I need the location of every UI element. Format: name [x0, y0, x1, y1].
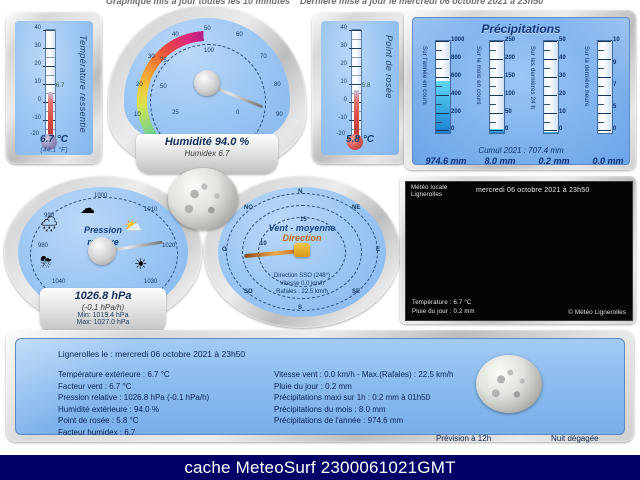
lcd-copyright: © Météo Lignerolles — [568, 309, 626, 316]
felt-tick-30: 30 — [23, 43, 41, 49]
full-moon-icon — [476, 355, 542, 413]
humidity-tick-80: 80 — [274, 82, 281, 88]
precip-24h-tick-0: 0 — [559, 126, 562, 132]
caption-last-update: Dernière mise à jour le mercredi 06 octo… — [300, 0, 543, 6]
lcd-temperature: Température : 6.7 °C — [412, 300, 471, 306]
summary-wind-speed: Vitesse vent : 0.0 km/h - Max.(Rafales) … — [274, 369, 453, 381]
felt-current-marker: 6.7 — [56, 83, 64, 89]
precip-month-tick-50: 50 — [505, 109, 512, 115]
humidity-tick-20: 20 — [136, 82, 143, 88]
lcd-panel[interactable]: Météo locale Lignerolles mercredi 06 oct… — [400, 176, 636, 324]
precip-tube-hour — [597, 40, 613, 134]
humidity-inner-tick-50: 50 — [160, 84, 167, 90]
lcd-screen: Météo locale Lignerolles mercredi 06 oct… — [405, 181, 633, 321]
lcd-datetime: mercredi 06 octobre 2021 à 23h50 — [476, 187, 589, 194]
summary-rain-year: Précipitations de l'année : 974.6 mm — [274, 415, 453, 427]
forecast-text: Nuit dégagée — [551, 434, 599, 443]
summary-header: Lignerolles le : mercredi 06 octobre 202… — [58, 349, 245, 359]
dew-point-value: 5.8 °C — [321, 134, 399, 145]
precip-label-24h: Sur les dernières 24 h — [529, 46, 535, 109]
felt-temperature-title: Température ressentie — [78, 35, 88, 133]
precip-value-year: 974.6 mm — [418, 156, 474, 166]
precip-label-year: Sur l'année en cours — [421, 46, 427, 105]
summary-rain-today: Pluie du jour : 0.2 mm — [274, 381, 453, 393]
summary-temp-ext: Température extérieure : 6.7 °C — [58, 369, 209, 381]
precip-hour-tick-7: 7 — [613, 82, 616, 88]
precip-column-hour: Sur la dernière heure 10 9 7 5 0 0.0 mm — [583, 40, 633, 160]
felt-tick-m10: -10 — [23, 115, 41, 121]
weather-dashboard: Graphique mis à jour toutes les 10 minut… — [0, 0, 640, 480]
precipitation-face: Précipitations Sur l'année en cours 1000… — [412, 17, 630, 165]
precip-tube-month — [489, 40, 505, 134]
precip-column-24h: Sur les dernières 24 h 50 40 30 20 10 0 … — [529, 40, 579, 160]
lcd-rain-today: Pluie du jour : 0.2 mm — [412, 309, 475, 315]
pressure-min: Min: 1019.4 hPa — [40, 312, 167, 319]
compass-e: E — [376, 247, 380, 253]
wind-speed-text: Vitesse 0.0 km/h — [218, 281, 386, 287]
window-titlebar: cache MeteoSurf 2300061021GMT — [0, 455, 640, 480]
felt-tick-10: 10 — [23, 79, 41, 85]
pressure-readout-panel: 1026.8 hPa (-0.1 hPa/h) Min: 1019.4 hPa … — [40, 288, 167, 334]
precip-value-month: 8.0 mm — [472, 156, 528, 166]
compass-s: S — [298, 305, 302, 311]
pressure-max: Max: 1027.0 hPa — [40, 319, 167, 326]
pressure-readout: 1026.8 hPa — [40, 290, 167, 302]
precip-24h-tick-50: 50 — [559, 37, 566, 43]
summary-dew-point: Point de rosée : 5.8 °C — [58, 415, 209, 427]
precipitation-cumulative-note: Cumul 2021 : 707.4 mm — [413, 146, 629, 155]
precip-label-hour: Sur la dernière heure — [583, 46, 589, 107]
pressure-tick-1010: 1010 — [144, 207, 157, 213]
dew-point-title: Point de rosée — [384, 35, 394, 99]
precip-year-tick-400: 400 — [451, 91, 461, 97]
summary-panel[interactable]: Lignerolles le : mercredi 06 octobre 202… — [6, 330, 634, 442]
precip-year-tick-800: 800 — [451, 55, 461, 61]
forecast-label: Prévision à 12h — [436, 434, 491, 443]
precip-value-hour: 0.0 mm — [580, 156, 636, 166]
precip-month-tick-250: 250 — [505, 37, 515, 43]
dew-point-scale — [351, 29, 362, 139]
storm-icon: ⛈ — [40, 255, 52, 270]
felt-temperature-scale — [45, 29, 56, 139]
humidity-gauge[interactable]: 50 40 60 30 70 20 80 10 90 75 100 50 25 … — [108, 6, 306, 172]
dew-tick-10: 10 — [329, 79, 347, 85]
wind-title-line2: Direction — [218, 233, 386, 243]
felt-temperature-subvalue: (44.1 °F) — [15, 147, 93, 154]
precip-year-tick-1000: 1000 — [451, 37, 464, 43]
precip-fill-year — [436, 81, 450, 133]
summary-humidity: Humidité extérieure : 94.0 % — [58, 404, 209, 416]
wind-gust-text: Rafales : 22.5 km/h — [218, 289, 386, 295]
dew-tick-30: 30 — [329, 43, 347, 49]
precip-year-tick-200: 200 — [451, 109, 461, 115]
precip-year-tick-600: 600 — [451, 73, 461, 79]
wind-title-line1: Vent - moyenne — [218, 223, 386, 233]
precip-tube-year — [435, 40, 451, 134]
precip-tube-24h — [543, 40, 559, 134]
felt-tick-20: 20 — [23, 61, 41, 67]
felt-temperature-face: 40 30 20 10 0 -10 -20 6.7 Température re… — [15, 21, 93, 155]
pressure-title-line1: Pression — [18, 225, 188, 235]
precip-month-tick-0: 0 — [505, 126, 508, 132]
dew-current-marker: 5.8 — [362, 83, 370, 89]
humidity-inner-tick-75: 75 — [160, 58, 167, 64]
summary-humidex: Facteur humidex : 6.7 — [58, 427, 209, 439]
precip-hour-tick-10: 10 — [613, 37, 620, 43]
precip-24h-tick-20: 20 — [559, 91, 566, 97]
humidity-hub — [194, 70, 220, 96]
humidity-tick-10: 10 — [134, 112, 141, 118]
precip-fill-24h — [544, 132, 558, 133]
titlebar-text: cache MeteoSurf 2300061021GMT — [0, 458, 640, 478]
precip-column-year: Sur l'année en cours 1000 800 600 400 20… — [421, 40, 471, 160]
precip-hour-tick-5: 5 — [613, 104, 616, 110]
dew-tick-20: 20 — [329, 61, 347, 67]
pressure-tick-990: 990 — [44, 213, 54, 219]
dew-tick-m10: -10 — [329, 115, 347, 121]
pressure-tick-1030: 1030 — [144, 279, 157, 285]
summary-right-column: Vitesse vent : 0.0 km/h - Max.(Rafales) … — [274, 369, 453, 427]
precip-year-tick-0: 0 — [451, 126, 454, 132]
pressure-hub — [88, 237, 116, 265]
dew-tick-0: 0 — [329, 97, 347, 103]
summary-left-column: Température extérieure : 6.7 °C Facteur … — [58, 369, 209, 438]
humidity-face: 50 40 60 30 70 20 80 10 90 75 100 50 25 … — [124, 18, 290, 150]
humidity-subreadout: Humidex 6.7 — [136, 149, 279, 158]
precip-month-tick-150: 150 — [505, 73, 515, 79]
humidity-tick-90: 90 — [276, 112, 283, 118]
dew-point-face: 40 30 20 10 0 -10 -20 5.8 Point de rosée… — [321, 21, 399, 155]
cloud-icon: ☁ — [80, 201, 95, 216]
dew-tick-40: 40 — [329, 25, 347, 31]
humidity-inner-tick-0: 0 — [236, 110, 239, 116]
precip-column-month: Sur le mois en cours 250 200 150 100 50 … — [475, 40, 525, 160]
sun-icon: ☀ — [134, 257, 147, 272]
precip-label-month: Sur le mois en cours — [475, 46, 481, 105]
summary-face: Lignerolles le : mercredi 06 octobre 202… — [15, 338, 625, 435]
summary-rain-max-1h: Précipitations maxi sur 1h : 0.2 mm à 01… — [274, 392, 453, 404]
humidity-readout: Humidité 94.0 % — [136, 136, 279, 148]
moon-phase-icon-top — [168, 168, 238, 230]
humidity-tick-40: 40 — [172, 32, 179, 38]
humidity-tick-60: 60 — [236, 32, 243, 38]
humidity-tick-50: 50 — [204, 26, 211, 32]
wind-face: N NE E SE S SO O NO 15 10 Vent - moyenne… — [218, 187, 386, 317]
precip-24h-tick-30: 30 — [559, 73, 566, 79]
felt-tick-0: 0 — [23, 97, 41, 103]
summary-pressure: Pression relative : 1026.8 hPa (-0.1 hPa… — [58, 392, 209, 404]
compass-no: NO — [244, 205, 253, 211]
dew-point-gauge[interactable]: 40 30 20 10 0 -10 -20 5.8 Point de rosée… — [312, 12, 408, 164]
precip-month-tick-200: 200 — [505, 55, 515, 61]
precip-month-tick-100: 100 — [505, 91, 515, 97]
pressure-tick-1040: 1040 — [52, 279, 65, 285]
compass-ne: NE — [352, 205, 360, 211]
pressure-tick-1000: 1000 — [94, 193, 107, 199]
humidity-inner-tick-100: 100 — [204, 48, 214, 54]
precip-hour-tick-9: 9 — [613, 60, 616, 66]
humidity-tick-30: 30 — [148, 54, 155, 60]
compass-n: N — [298, 189, 302, 195]
humidity-inner-tick-25: 25 — [172, 110, 179, 116]
summary-wind-chill: Facteur vent : 6.7 °C — [58, 381, 209, 393]
felt-temperature-value: 6.7 °C — [15, 134, 93, 145]
precip-24h-tick-10: 10 — [559, 109, 566, 115]
humidity-tick-70: 70 — [260, 54, 267, 60]
precip-hour-tick-0: 0 — [613, 126, 616, 132]
wind-direction-text: Direction SSO (248°) — [218, 273, 386, 279]
precipitation-panel[interactable]: Précipitations Sur l'année en cours 1000… — [404, 10, 636, 170]
wind-hub — [294, 243, 310, 257]
summary-rain-month: Précipitations du mois : 8.0 mm — [274, 404, 453, 416]
precip-24h-tick-40: 40 — [559, 55, 566, 61]
lcd-station-line2: Lignerolles — [411, 192, 442, 198]
pressure-trend: (-0.1 hPa/h) — [40, 303, 167, 312]
precip-value-24h: 0.2 mm — [526, 156, 582, 166]
felt-tick-40: 40 — [23, 25, 41, 31]
felt-temperature-gauge[interactable]: 40 30 20 10 0 -10 -20 6.7 Température re… — [6, 12, 102, 164]
lcd-station-line1: Météo locale — [411, 185, 447, 191]
precipitation-title: Précipitations — [413, 22, 629, 36]
compass-o: O — [222, 247, 227, 253]
